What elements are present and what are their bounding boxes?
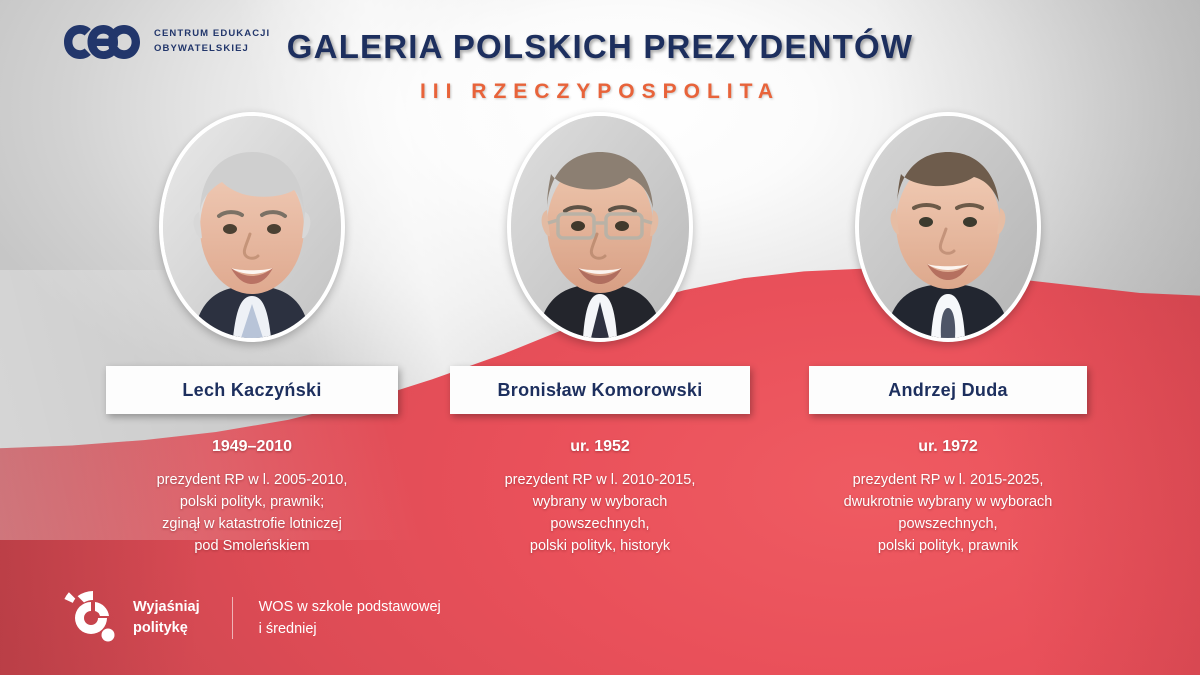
campaign-logo: Wyjaśniaj politykę: [62, 589, 200, 647]
president-years: ur. 1972: [918, 438, 978, 456]
page-subtitle: III RZECZYPOSPOLITA: [0, 80, 1200, 104]
president-card: Lech Kaczyński 1949–2010 prezydent RP w …: [102, 112, 402, 557]
portrait-lech-kaczynski: [159, 112, 345, 342]
title-block: GALERIA POLSKICH PREZYDENTÓW III RZECZYP…: [0, 28, 1200, 104]
page-title: GALERIA POLSKICH PREZYDENTÓW: [0, 28, 1200, 66]
president-years: ur. 1952: [570, 438, 630, 456]
portrait-andrzej-duda: [855, 112, 1041, 342]
nameplate: Lech Kaczyński: [106, 366, 398, 414]
nameplate: Bronisław Komorowski: [450, 366, 750, 414]
president-name: Andrzej Duda: [888, 380, 1008, 401]
footer: Wyjaśniaj politykę WOS w szkole podstawo…: [62, 589, 441, 647]
campaign-label: Wyjaśniaj politykę: [133, 597, 200, 638]
president-years: 1949–2010: [212, 438, 292, 456]
president-description: prezydent RP w l. 2005-2010, polski poli…: [157, 469, 348, 557]
president-name: Bronisław Komorowski: [497, 380, 702, 401]
nameplate: Andrzej Duda: [809, 366, 1087, 414]
president-name: Lech Kaczyński: [182, 380, 321, 401]
president-card-list: Lech Kaczyński 1949–2010 prezydent RP w …: [0, 112, 1200, 557]
portrait-bronislaw-komorowski: [507, 112, 693, 342]
footer-divider: [232, 597, 233, 639]
president-description: prezydent RP w l. 2015-2025, dwukrotnie …: [844, 469, 1053, 557]
poster-canvas: CENTRUM EDUKACJI OBYWATELSKIEJ GALERIA P…: [0, 0, 1200, 675]
president-description: prezydent RP w l. 2010-2015, wybrany w w…: [505, 469, 696, 557]
footer-note: WOS w szkole podstawowej i średniej: [259, 596, 441, 640]
president-card: Bronisław Komorowski ur. 1952 prezydent …: [450, 112, 750, 557]
wyjasniaj-polityke-icon: [62, 589, 120, 647]
president-card: Andrzej Duda ur. 1972 prezydent RP w l. …: [798, 112, 1098, 557]
